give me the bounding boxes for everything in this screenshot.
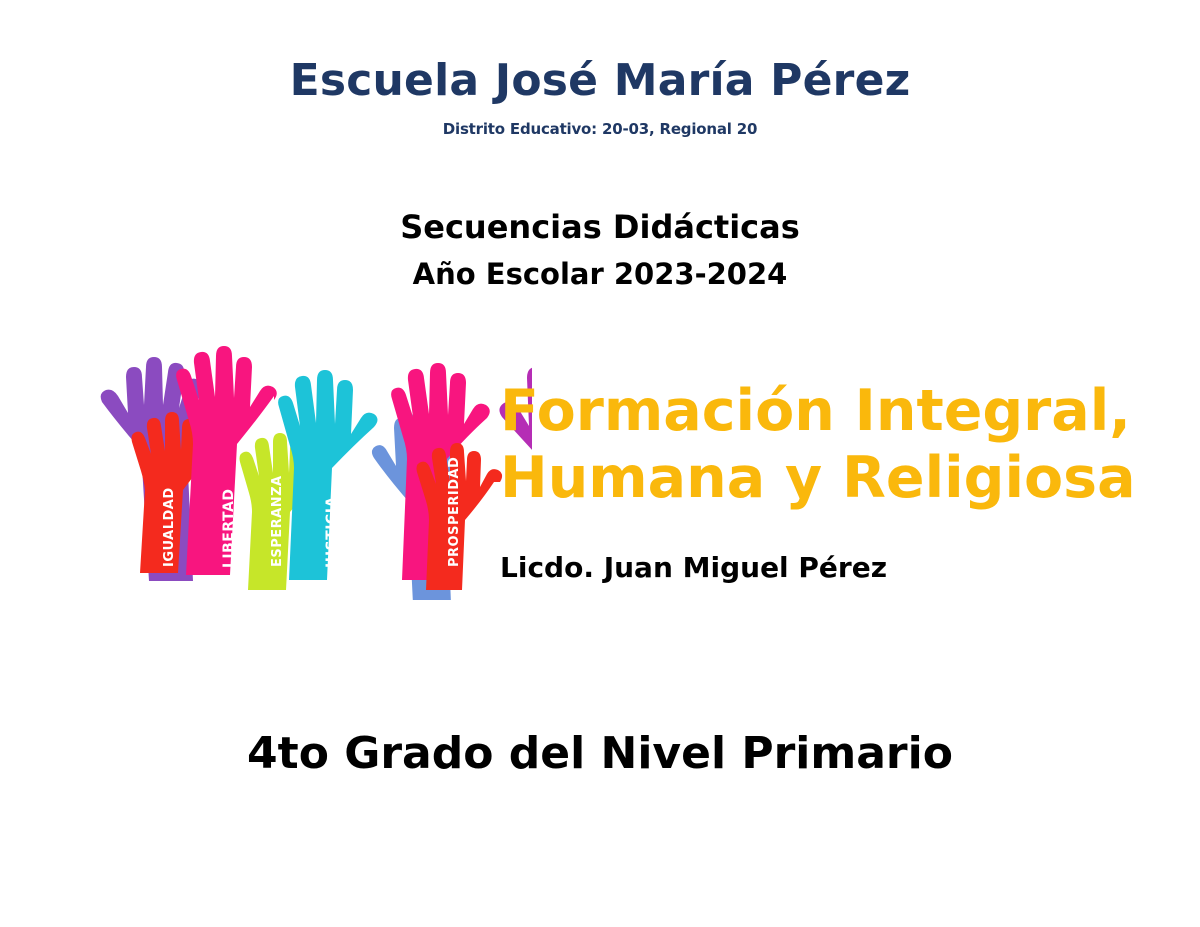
hand-label-libertad: LIBERTAD bbox=[221, 489, 237, 568]
district-subheading: Distrito Educativo: 20-03, Regional 20 bbox=[0, 120, 1200, 138]
hand-label-justicia: JUSTICIA bbox=[324, 496, 340, 569]
hand-label-confianza: CONFIANZA bbox=[106, 471, 122, 568]
hand-label-esperanza: ESPERANZA bbox=[270, 475, 285, 567]
main-title-line-1: Formación Integral, bbox=[500, 378, 1120, 445]
hand-label-prosperidad: PROSPERIDAD bbox=[447, 457, 462, 567]
document-page: Escuela José María Pérez Distrito Educat… bbox=[0, 0, 1200, 927]
hand-label-derechos: DERECHOS bbox=[376, 478, 392, 568]
hand-label-igualdad: IGUALDAD bbox=[162, 487, 177, 567]
school-name-heading: Escuela José María Pérez bbox=[0, 58, 1200, 104]
raised-hands-illustration: CONFIANZA IGUALDAD LIBERTAD ESPERANZA JU… bbox=[62, 300, 532, 600]
document-kind-heading: Secuencias Didácticas bbox=[0, 208, 1200, 246]
grade-level-heading: 4to Grado del Nivel Primario bbox=[0, 728, 1200, 779]
main-title-line-2: Humana y Religiosa bbox=[500, 445, 1120, 512]
school-year-heading: Año Escolar 2023-2024 bbox=[0, 257, 1200, 291]
author-name: Licdo. Juan Miguel Pérez bbox=[500, 551, 887, 584]
main-title: Formación Integral, Humana y Religiosa bbox=[500, 378, 1120, 511]
